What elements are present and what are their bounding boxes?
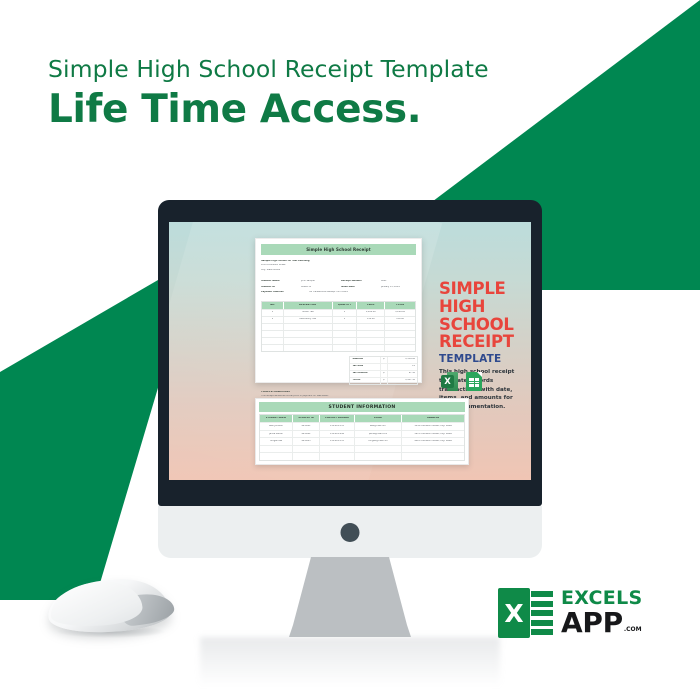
table-row-empty — [260, 452, 464, 460]
totals-value: 67.50 — [409, 372, 415, 374]
cell-email: morgan@mail.com — [368, 440, 389, 442]
student-col-name: STUDENT NAME — [266, 417, 286, 419]
receipt-school-name: Sample High School for Test Learning — [261, 260, 416, 262]
totals-value: 1,350.00 — [405, 358, 415, 360]
excel-file-icon[interactable]: X — [441, 372, 458, 391]
cell-student-name: Alex Johnson — [269, 425, 283, 427]
totals-currency: $ — [383, 372, 384, 374]
totals-row-tax-amount: Tax Amount $ 67.50 — [350, 371, 417, 378]
cell-no: 2 — [272, 318, 273, 320]
totals-currency: $ — [383, 358, 384, 360]
cell-price: 150.00 — [367, 318, 375, 320]
receipt-field-label: Receipt Number — [341, 280, 362, 282]
cell-contact: 111-222-555 — [330, 440, 344, 442]
table-row: Morgan Lee SS-0003 111-222-555 morgan@ma… — [260, 437, 464, 445]
receipt-col-description: DESCRIPTION — [299, 304, 316, 306]
receipt-col-quantity: QUANTITY — [338, 304, 351, 306]
headline-block: Simple High School Receipt Template Life… — [48, 57, 489, 133]
receipt-note: This receipt serves as official proof of… — [261, 395, 329, 397]
monitor-stand — [289, 557, 411, 637]
receipt-school-address: 1234 Education Street — [261, 264, 416, 266]
receipt-col-no: NO. — [270, 304, 275, 306]
cell-student-id: SS-0001 — [301, 425, 310, 427]
cell-description: Laboratory Fee — [299, 318, 315, 320]
cell-contact: 111-222-333 — [330, 425, 344, 427]
promo-template-label: TEMPLATE — [439, 353, 529, 365]
cell-no: 1 — [272, 311, 273, 313]
cell-total: 150.00 — [396, 318, 404, 320]
receipt-notes-title: TERMS & CONDITIONS — [261, 391, 416, 393]
student-col-email: EMAIL — [374, 417, 382, 419]
excel-logo-icon: X — [498, 588, 554, 638]
totals-row-subtotal: Subtotal $ 1,350.00 — [350, 357, 417, 364]
headline-subtitle: Simple High School Receipt Template — [48, 57, 489, 83]
table-row: Alex Johnson SS-0001 111-222-333 alex@ma… — [260, 422, 464, 430]
logo-x-glyph: X — [498, 588, 530, 638]
cell-address: 1234 Education Street, City, State — [414, 425, 451, 427]
cell-student-name: Jamie Parker — [269, 433, 283, 435]
google-sheets-file-icon[interactable] — [466, 372, 482, 391]
table-row: Jamie Parker SS-0002 111-222-444 jamie@m… — [260, 430, 464, 438]
logo-app-text: APP — [561, 609, 623, 637]
totals-label: Tax Rate — [352, 365, 363, 367]
totals-value: 1,417.50 — [405, 379, 415, 381]
cell-contact: 111-222-444 — [330, 433, 344, 435]
table-row-empty — [262, 330, 415, 337]
student-col-contact: CONTACT NUMBER — [325, 417, 349, 419]
table-row: 2 Laboratory Fee 1 150.00 150.00 — [262, 316, 415, 323]
sheets-grid-glyph — [469, 378, 479, 387]
student-table-header-row: STUDENT NAME STUDENT ID CONTACT NUMBER E… — [260, 415, 464, 422]
table-row: 1 Tuition Fee 1 1,200.00 1,200.00 — [262, 309, 415, 316]
cell-total: 1,200.00 — [395, 311, 405, 313]
monitor-logo-dot — [341, 523, 360, 542]
promo-line-3: RECEIPT — [439, 333, 529, 351]
imac-desktop-monitor: Simple High School Receipt Sample High S… — [158, 200, 542, 558]
table-row-empty — [260, 445, 464, 453]
receipt-table-header-row: NO. DESCRIPTION QUANTITY PRICE TOTAL — [262, 302, 415, 309]
student-col-address: ADDRESS — [427, 417, 439, 419]
table-row-empty — [262, 344, 415, 351]
totals-label: TOTAL — [352, 379, 360, 381]
promo-text-block: SIMPLE HIGH SCHOOL RECEIPT TEMPLATE This… — [439, 280, 529, 412]
cell-student-name: Morgan Lee — [270, 440, 283, 442]
receipt-totals-block: Subtotal $ 1,350.00 Tax Rate 5% Tax Amou… — [349, 356, 418, 385]
receipt-field-value: 0001 — [381, 280, 387, 282]
cell-quantity: 1 — [344, 311, 345, 313]
receipt-field-value: Grade 11 — [301, 286, 311, 288]
cell-price: 1,200.00 — [366, 311, 376, 313]
totals-row-total: TOTAL $ 1,417.50 — [350, 378, 417, 384]
cell-address: 9012 Education Street, City, State — [414, 440, 451, 442]
receipt-col-total: TOTAL — [396, 304, 404, 306]
receipt-field-label: Issue Date — [341, 286, 355, 288]
logo-grid-glyph — [531, 591, 553, 635]
receipt-field-label: Student ID — [261, 286, 275, 288]
magic-mouse[interactable] — [48, 576, 176, 642]
monitor-reflection — [200, 637, 500, 687]
receipt-field-value: All Transactions Receipt Form 2024 — [309, 291, 347, 293]
headline-title: Life Time Access. — [48, 88, 489, 133]
file-format-icons: X — [441, 372, 482, 391]
receipt-fields: Student Name John Sample Receipt Number … — [261, 280, 416, 294]
excelsapp-logo[interactable]: X EXCELS APP .COM — [498, 588, 642, 638]
totals-currency: $ — [383, 379, 384, 381]
cell-quantity: 1 — [344, 318, 345, 320]
monitor-bezel: Simple High School Receipt Sample High S… — [158, 200, 542, 506]
receipt-school-block: Sample High School for Test Learning 123… — [261, 260, 416, 271]
receipt-title: Simple High School Receipt — [261, 244, 416, 255]
cell-student-id: SS-0002 — [301, 433, 310, 435]
monitor-screen[interactable]: Simple High School Receipt Sample High S… — [169, 222, 531, 480]
receipt-field-value: John Sample — [301, 280, 315, 282]
receipt-line-items-table: NO. DESCRIPTION QUANTITY PRICE TOTAL 1 T… — [261, 301, 416, 352]
cell-email: jamie@mail.com — [369, 433, 387, 435]
receipt-col-price: PRICE — [367, 304, 375, 306]
student-information-title: STUDENT INFORMATION — [259, 402, 465, 412]
cell-description: Tuition Fee — [302, 311, 314, 313]
totals-label: Tax Amount — [352, 372, 367, 374]
totals-row-tax-rate: Tax Rate 5% — [350, 364, 417, 371]
receipt-document[interactable]: Simple High School Receipt Sample High S… — [255, 238, 422, 383]
cell-email: alex@mail.com — [370, 425, 387, 427]
poster-canvas: Simple High School Receipt Template Life… — [0, 0, 700, 700]
monitor-chin — [158, 506, 542, 558]
student-information-card[interactable]: STUDENT INFORMATION STUDENT NAME STUDENT… — [255, 398, 469, 465]
totals-label: Subtotal — [352, 358, 363, 360]
cell-student-id: SS-0003 — [301, 440, 310, 442]
student-information-table: STUDENT NAME STUDENT ID CONTACT NUMBER E… — [259, 414, 465, 461]
totals-value: 5% — [412, 365, 415, 367]
cell-address: 5678 Education Street, City, State — [414, 433, 451, 435]
receipt-field-label: Student Name — [261, 280, 280, 282]
table-row-empty — [262, 337, 415, 344]
promo-line-1: SIMPLE — [439, 280, 529, 298]
student-col-id: STUDENT ID — [298, 417, 314, 419]
logo-dotcom-text: .COM — [624, 627, 642, 633]
promo-line-2: HIGH SCHOOL — [439, 298, 529, 334]
logo-wordmark: EXCELS APP .COM — [561, 589, 642, 637]
receipt-field-label: Payment Address — [261, 291, 284, 293]
receipt-field-value: January 15, 2024 — [381, 286, 400, 288]
receipt-school-city: City, State 00000 — [261, 269, 416, 271]
excel-x-glyph: X — [441, 375, 454, 388]
table-row-empty — [262, 323, 415, 330]
